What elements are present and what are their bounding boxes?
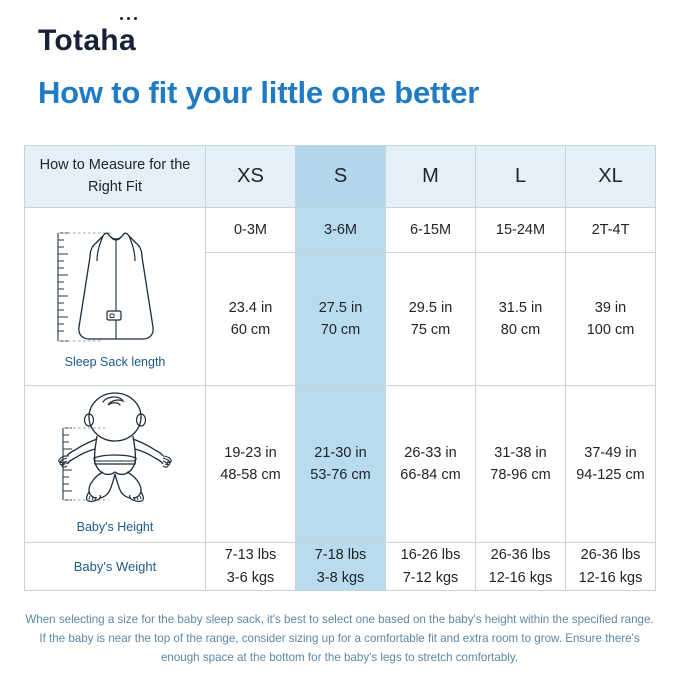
baby-weight-s-lbs: 7-18 lbs <box>296 544 385 566</box>
brand-logo: Totaha <box>38 26 136 56</box>
baby-height-xs-cm: 48-58 cm <box>206 464 295 486</box>
baby-height-s: 21-30 in 53-76 cm <box>296 386 386 543</box>
table-row-baby-weight: Baby's Weight 7-13 lbs 3-6 kgs 7-18 lbs … <box>25 543 656 591</box>
baby-height-xs: 19-23 in 48-58 cm <box>206 386 296 543</box>
baby-weight-m-kgs: 7-12 kgs <box>386 567 475 589</box>
baby-height-l-cm: 78-96 cm <box>476 464 565 486</box>
baby-height-l-in: 31-38 in <box>476 442 565 464</box>
size-header-s: S <box>296 146 386 208</box>
baby-weight-l: 26-36 lbs 12-16 kgs <box>476 543 566 591</box>
size-chart-table: How to Measure for the Right Fit XS S M … <box>24 145 656 591</box>
sack-length-l-cm: 80 cm <box>476 319 565 341</box>
baby-weight-s-kgs: 3-8 kgs <box>296 567 385 589</box>
sack-length-xs-in: 23.4 in <box>206 297 295 319</box>
baby-height-m-in: 26-33 in <box>386 442 475 464</box>
age-cell-s: 3-6M <box>296 208 386 253</box>
table-row-baby-height: Baby's Height 19-23 in 48-58 cm 21-30 in… <box>25 386 656 543</box>
sack-length-s-in: 27.5 in <box>296 297 385 319</box>
baby-weight-l-lbs: 26-36 lbs <box>476 544 565 566</box>
baby-height-m: 26-33 in 66-84 cm <box>386 386 476 543</box>
baby-height-s-cm: 53-76 cm <box>296 464 385 486</box>
baby-weight-xl-lbs: 26-36 lbs <box>566 544 655 566</box>
sack-length-s-cm: 70 cm <box>296 319 385 341</box>
sack-length-m-in: 29.5 in <box>386 297 475 319</box>
baby-weight-xs-kgs: 3-6 kgs <box>206 567 295 589</box>
baby-weight-xl: 26-36 lbs 12-16 kgs <box>566 543 656 591</box>
age-cell-m: 6-15M <box>386 208 476 253</box>
baby-weight-xs-lbs: 7-13 lbs <box>206 544 295 566</box>
baby-height-s-in: 21-30 in <box>296 442 385 464</box>
baby-illustration <box>39 392 191 516</box>
sack-length-xs: 23.4 in 60 cm <box>206 253 296 386</box>
age-cell-l: 15-24M <box>476 208 566 253</box>
brand-umlaut-base: a <box>119 24 136 57</box>
baby-height-xl: 37-49 in 94-125 cm <box>566 386 656 543</box>
baby-height-xl-in: 37-49 in <box>566 442 655 464</box>
sleep-sack-caption: Sleep Sack length <box>65 355 166 369</box>
sack-length-xs-cm: 60 cm <box>206 319 295 341</box>
baby-weight-s: 7-18 lbs 3-8 kgs <box>296 543 386 591</box>
umlaut-dots-icon <box>120 17 137 23</box>
sack-length-xl-cm: 100 cm <box>566 319 655 341</box>
baby-weight-xl-kgs: 12-16 kgs <box>566 567 655 589</box>
sack-length-l: 31.5 in 80 cm <box>476 253 566 386</box>
sleep-sack-illustration <box>41 223 189 351</box>
page-title: How to fit your little one better <box>38 76 479 111</box>
baby-weight-label: Baby's Weight <box>25 543 206 591</box>
age-cell-xl: 2T-4T <box>566 208 656 253</box>
brand-text-main: Totah <box>38 24 119 57</box>
baby-weight-xs: 7-13 lbs 3-6 kgs <box>206 543 296 591</box>
baby-height-cell: Baby's Height <box>25 386 206 543</box>
baby-height-xs-in: 19-23 in <box>206 442 295 464</box>
baby-height-xl-cm: 94-125 cm <box>566 464 655 486</box>
table-row-age: Sleep Sack length 0-3M 3-6M 6-15M 15-24M… <box>25 208 656 253</box>
sack-length-m-cm: 75 cm <box>386 319 475 341</box>
baby-height-caption: Baby's Height <box>77 520 154 534</box>
sizing-note: When selecting a size for the baby sleep… <box>24 611 655 667</box>
sack-length-xl: 39 in 100 cm <box>566 253 656 386</box>
baby-height-l: 31-38 in 78-96 cm <box>476 386 566 543</box>
baby-weight-m: 16-26 lbs 7-12 kgs <box>386 543 476 591</box>
corner-header: How to Measure for the Right Fit <box>25 146 206 208</box>
sack-length-l-in: 31.5 in <box>476 297 565 319</box>
baby-weight-m-lbs: 16-26 lbs <box>386 544 475 566</box>
size-header-xs: XS <box>206 146 296 208</box>
size-header-xl: XL <box>566 146 656 208</box>
age-cell-xs: 0-3M <box>206 208 296 253</box>
size-header-l: L <box>476 146 566 208</box>
baby-height-m-cm: 66-84 cm <box>386 464 475 486</box>
brand-umlaut-letter: a <box>119 26 136 56</box>
sleep-sack-cell: Sleep Sack length <box>25 208 206 386</box>
sack-length-s: 27.5 in 70 cm <box>296 253 386 386</box>
sack-length-xl-in: 39 in <box>566 297 655 319</box>
baby-weight-l-kgs: 12-16 kgs <box>476 567 565 589</box>
table-header-row: How to Measure for the Right Fit XS S M … <box>25 146 656 208</box>
size-header-m: M <box>386 146 476 208</box>
sack-length-m: 29.5 in 75 cm <box>386 253 476 386</box>
